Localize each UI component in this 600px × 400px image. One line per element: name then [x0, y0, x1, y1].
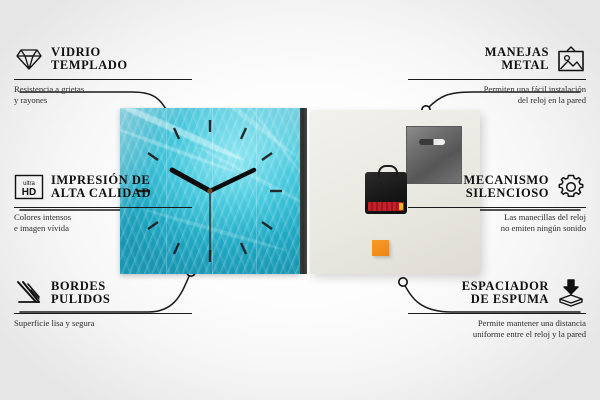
clock-minute-hand [210, 170, 254, 191]
clock-tick-10 [148, 153, 158, 160]
clock-tick-1 [241, 128, 246, 139]
clock-tick-11 [174, 128, 179, 139]
clock-tick-2 [262, 153, 272, 160]
clock-tick-7 [174, 243, 179, 254]
hanger-slot [419, 139, 445, 145]
callout-rule [14, 313, 192, 314]
callout-rule [14, 207, 192, 208]
callout-bordes-pulidos: BORDES PULIDOS Superficie lisa y segura [14, 276, 192, 329]
polished-edges-icon [14, 278, 44, 308]
clock-center-cap [207, 188, 212, 193]
clock-tick-4 [262, 222, 272, 229]
callout-title: MANEJAS METAL [408, 46, 549, 73]
callout-impresion-alta-calidad: ultra HD IMPRESIÓN DE ALTA CALIDAD Color… [14, 170, 192, 233]
callout-description: Permiten una fácil instalación del reloj… [408, 84, 586, 105]
callout-rule [14, 79, 192, 80]
callout-description: Permite mantener una distancia uniforme … [408, 318, 586, 339]
callout-title: ESPACIADOR DE ESPUMA [408, 280, 549, 307]
mechanism-hanging-loop [378, 165, 398, 177]
foam-spacer [372, 240, 389, 256]
picture-frame-hanger-icon [556, 44, 586, 74]
clock-tick-5 [241, 243, 246, 254]
callout-description: Colores intensos e imagen vívida [14, 212, 192, 233]
svg-text:HD: HD [22, 187, 36, 198]
battery [368, 202, 404, 211]
foam-spacer-arrow-icon [556, 278, 586, 308]
callout-description: Superficie lisa y segura [14, 318, 192, 329]
battery-terminal [399, 203, 403, 210]
callout-description: Resistencia a grietas y rayones [14, 84, 192, 105]
callout-espaciador-espuma: ESPACIADOR DE ESPUMA Permite mantener un… [408, 276, 586, 339]
ultra-hd-icon: ultra HD [14, 172, 44, 202]
gear-icon [556, 172, 586, 202]
callout-mecanismo-silencioso: MECANISMO SILENCIOSO Las manecillas del … [408, 170, 586, 233]
callout-manejas-metal: MANEJAS METAL Permiten una fácil instala… [408, 42, 586, 105]
clock-mechanism [365, 172, 407, 214]
callout-title: IMPRESIÓN DE ALTA CALIDAD [51, 174, 192, 201]
callout-rule [408, 313, 586, 314]
callout-description: Las manecillas del reloj no emiten ningú… [408, 212, 586, 233]
callout-title: MECANISMO SILENCIOSO [408, 174, 549, 201]
callout-vidrio-templado: VIDRIO TEMPLADO Resistencia a grietas y … [14, 42, 192, 105]
callout-title: BORDES PULIDOS [51, 280, 192, 307]
callout-title: VIDRIO TEMPLADO [51, 46, 192, 73]
callout-rule [408, 207, 586, 208]
callout-rule [408, 79, 586, 80]
diamond-icon [14, 44, 44, 74]
glass-thickness-edge [300, 108, 307, 274]
infographic-canvas: VIDRIO TEMPLADO Resistencia a grietas y … [0, 0, 600, 400]
